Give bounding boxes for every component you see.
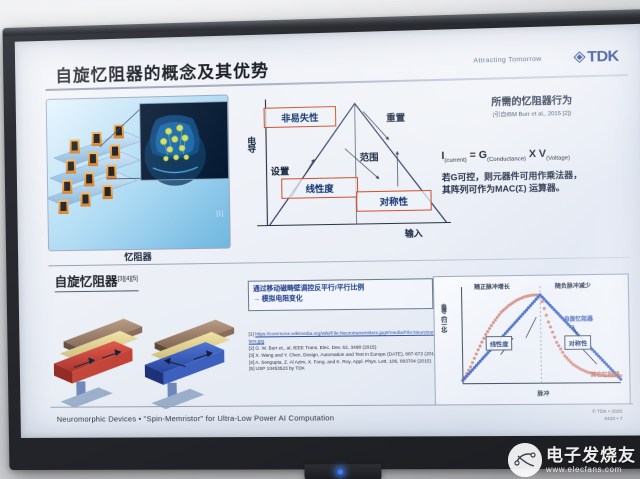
slide-copyright: © TDK • 2020 0420 • 7 — [592, 409, 622, 423]
photo-scene: 自旋忆阻器的概念及其优势 Attracting Tomorrow TDK — [0, 0, 640, 479]
eq-conductance-symbol: G — [479, 150, 487, 161]
label-set: 设置 — [271, 164, 290, 178]
chart-legend-spin: 自旋忆阻器 — [564, 314, 593, 323]
reference-number: [1] — [249, 331, 254, 336]
chart-plot-area — [434, 275, 630, 405]
spin-memristor-heading-text: 自旋忆阻器 — [54, 274, 117, 289]
watermark-url: www.elecfans.com — [546, 466, 636, 474]
chart-box-linearity: 线性度 — [486, 336, 513, 351]
x-axis-label: 输入 — [405, 227, 423, 240]
behavior-title: 所需的忆阻器行为 — [438, 91, 626, 110]
memristor-caption: 忆阻器 — [48, 249, 229, 265]
label-nonvolatile: 非易失性 — [264, 106, 337, 128]
spin-memristor-heading: 自旋忆阻器[3][4][5] — [54, 270, 138, 292]
reference-number: [5] — [249, 366, 254, 371]
monitor-screen: 自旋忆阻器的概念及其优势 Attracting Tomorrow TDK — [15, 24, 640, 438]
brand-tagline: Attracting Tomorrow — [473, 56, 541, 65]
chart-y-axis-label: 电导（归一化） — [439, 304, 448, 336]
tdk-wordmark: TDK — [587, 47, 619, 65]
crossbar-array-graphic — [47, 95, 230, 250]
monitor-stand-notch — [304, 464, 381, 479]
reference-list: [1] https://commons.wikimedia.org/wiki/F… — [249, 329, 445, 373]
chart-annotation-right: 随负脉冲减少 — [555, 281, 591, 290]
slide-footer: Neuromorphic Devices • "Spin-Memristor" … — [57, 413, 335, 424]
memristor-illustration: [1] — [46, 94, 231, 251]
eq-times: X — [529, 149, 536, 161]
reference-item: [5] USP 10453523 by TDK — [249, 365, 445, 374]
label-linearity: 线性度 — [281, 177, 358, 199]
desired-behavior-panel: 所需的忆阻器行为 (引自IBM Burr et al., 2015 [2]) I… — [438, 84, 628, 245]
eq-conductance-sub: (Conductance) — [487, 156, 526, 163]
reference-text: USP 10453523 by TDK — [256, 366, 305, 371]
chart-box-symmetry: 对称性 — [564, 335, 591, 350]
behavior-note: 若G可控，则元器件可用作乘法器， 其阵列可作为MAC(Σ) 运算器。 — [442, 168, 630, 197]
domain-wall-note: 通过移动磁畴壁调控反平行/平行比例 → 模拟电阻变化 — [248, 278, 434, 311]
chart-legend-other: 其它忆阻器 — [591, 370, 620, 379]
memristor-behavior-diagram: 非易失性 重置 范围 设置 线性度 对称性 电导 输入 — [241, 87, 460, 255]
bottom-content-row: 自旋忆阻器[3][4][5] — [48, 263, 631, 422]
circuit-icon — [508, 443, 542, 477]
conductance-chart: 随正脉冲增长 随负脉冲减少 电导（归一化） 脉冲 线性度 对称性 自旋忆阻器 其… — [433, 273, 631, 405]
reference-number: [3] — [249, 352, 254, 357]
watermark: 电子发烧友 www.elecfans.com — [508, 443, 636, 477]
eq-voltage-sub: (Voltage) — [546, 155, 570, 162]
chart-x-axis-label: 脉冲 — [537, 389, 549, 397]
top-content-row: [1] 忆阻器 — [46, 84, 629, 267]
label-range: 范围 — [360, 150, 379, 164]
reference-text: X. Wang and Y. Chen, Design, Automation … — [255, 351, 438, 358]
reference-link[interactable]: https://commons.wikimedia.org/wiki/File:… — [249, 329, 444, 343]
reference-number: [4] — [249, 359, 254, 364]
behavior-source: (引自IBM Burr et al., 2015 [2]) — [439, 107, 627, 120]
eq-current-sub: (current) — [444, 157, 466, 164]
behavior-note-line2: 其阵列可作为MAC(Σ) 运算器。 — [442, 180, 630, 196]
tdk-diamond-icon — [573, 51, 585, 63]
chart-annotation-left: 随正脉冲增长 — [474, 282, 510, 291]
reference-number: [2] — [249, 345, 254, 350]
page-code: 0420 • 7 — [592, 416, 622, 423]
watermark-logo-icon — [508, 443, 542, 477]
tdk-logo: TDK — [573, 47, 619, 66]
power-led — [338, 469, 343, 474]
eq-equals: = — [470, 150, 476, 161]
reference-text: G. W. Burr et., al, IEEE Trans. Elec. De… — [255, 344, 376, 350]
monitor: 自旋忆阻器的概念及其优势 Attracting Tomorrow TDK — [3, 9, 640, 470]
spin-memristor-citation: [3][4][5] — [118, 276, 138, 282]
label-reset: 重置 — [386, 111, 405, 125]
label-symmetry: 对称性 — [356, 190, 432, 212]
image-citation: [1] — [216, 211, 223, 217]
y-axis-label: 电导 — [245, 136, 258, 151]
domain-wall-note-line2: → 模拟电阻变化 — [253, 292, 428, 304]
spin-device-graphic — [49, 295, 242, 418]
watermark-name: 电子发烧友 — [546, 447, 636, 464]
watermark-text: 电子发烧友 www.elecfans.com — [546, 447, 636, 474]
page-title: 自旋忆阻器的概念及其优势 — [55, 57, 269, 87]
eq-voltage-symbol: V — [539, 149, 546, 161]
behavior-equation: I(current) = G(Conductance) X V(Voltage) — [441, 147, 629, 164]
presentation-slide: 自旋忆阻器的概念及其优势 Attracting Tomorrow TDK — [15, 24, 640, 438]
reference-text: A. Sengupta, Z. Al Azim, X. Fong, and K.… — [255, 358, 431, 365]
